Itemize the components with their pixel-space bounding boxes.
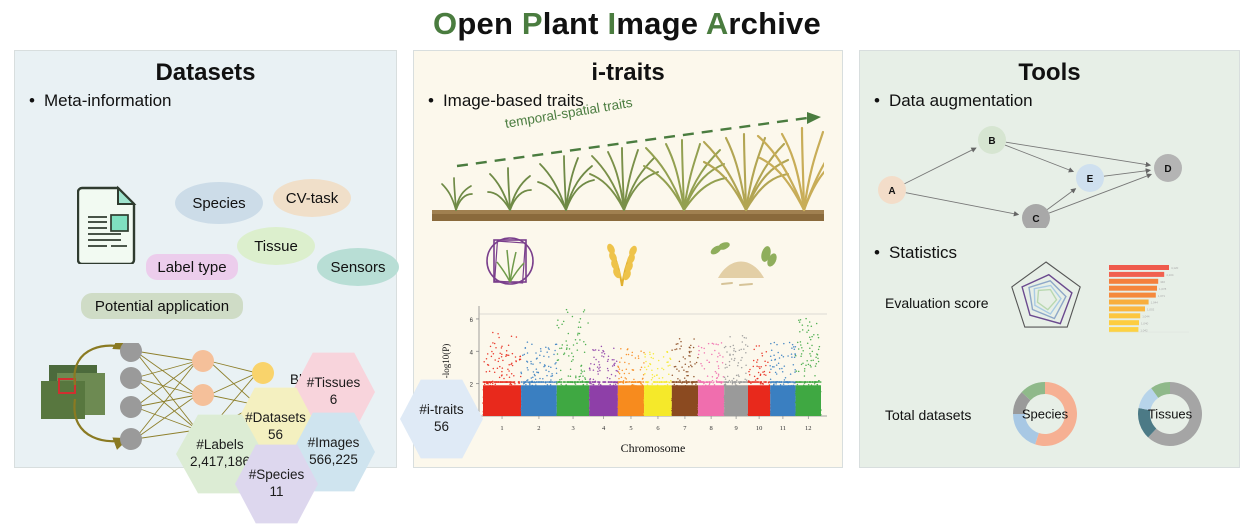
panel-tools-title: Tools	[860, 59, 1239, 87]
horizontal-bar-chart: 4,1204,1043461,0781,0711,0441,0021,0441,…	[1105, 262, 1193, 334]
bar-value-label: 1,044	[1151, 301, 1159, 305]
bar-value-label: 1,078	[1159, 287, 1167, 291]
x-tick-label: 7	[683, 425, 687, 432]
page-title: Open Plant Image Archive	[0, 6, 1254, 42]
meta-pill-potential-application[interactable]: Potential application	[81, 293, 243, 319]
tissues-donut-label: Tissues	[1128, 407, 1212, 422]
meta-pill-cv-task[interactable]: CV-task	[273, 179, 351, 217]
panel-itraits-title: i-traits	[414, 59, 842, 87]
hexagon-label: #Images	[308, 435, 360, 452]
grain-pile-icon	[709, 241, 778, 285]
bar-value-label: 1,071	[1158, 294, 1166, 298]
hexagon-label: #i-traits	[419, 402, 463, 419]
hexagon-value: 2,417,186	[190, 454, 250, 471]
hexagon-label: #Datasets	[245, 410, 306, 427]
bullet-data-augmentation: Data augmentation	[874, 91, 1033, 111]
meta-pill-sensors[interactable]: Sensors	[317, 248, 399, 286]
x-axis-label: Chromosome	[621, 441, 686, 455]
svg-text:2: 2	[470, 383, 474, 389]
x-tick-label: 11	[780, 425, 786, 432]
hexagon-value: 566,225	[309, 452, 358, 469]
hexagon-value: 56	[268, 427, 283, 444]
hexagon-value: 56	[434, 419, 449, 436]
bar-value-label: 4,104	[1166, 273, 1174, 277]
graph-node-e: E	[1087, 174, 1094, 185]
x-tick-label: 12	[805, 425, 812, 432]
species-donut-label: Species	[1003, 407, 1087, 422]
meta-pill-species[interactable]: Species	[175, 182, 263, 224]
x-tick-label: 2	[537, 425, 540, 432]
tissues-donut: Tissues	[1128, 372, 1212, 456]
hexagon-value: 11	[269, 484, 283, 501]
growth-stage-series	[432, 120, 824, 225]
bullet-statistics: Statistics	[874, 243, 957, 263]
graph-node-c: C	[1032, 214, 1039, 225]
y-axis-label: -log10(P)	[441, 344, 451, 379]
x-tick-label: 8	[709, 425, 712, 432]
hexagon-label: #Tissues	[307, 375, 361, 392]
bar-value-label: 1,002	[1147, 308, 1155, 312]
x-tick-label: 9	[734, 425, 737, 432]
trait-icons-row	[480, 232, 810, 290]
document-icon	[77, 184, 139, 264]
evaluation-score-label: Evaluation score	[885, 295, 989, 311]
bar-value-label: 1,042	[1140, 328, 1148, 332]
panel-datasets: Datasets Meta-information	[14, 50, 397, 468]
augmentation-graph: ABCDE	[868, 118, 1233, 228]
x-tick-label: 1	[500, 425, 503, 432]
graph-node-b: B	[988, 136, 995, 147]
manhattan-plot: 0246123456789101112Chromosome-log10(P)	[435, 296, 835, 458]
panel-datasets-title: Datasets	[15, 59, 396, 87]
hexagon-value: 6	[330, 392, 338, 409]
bar-value-label: 1,044	[1142, 315, 1150, 319]
x-tick-label: 5	[629, 425, 632, 432]
graph-node-a: A	[888, 186, 895, 197]
wheat-ear-icon	[606, 243, 639, 286]
x-tick-label: 4	[602, 425, 606, 432]
bullet-meta-information: Meta-information	[29, 91, 172, 111]
species-donut: Species	[1003, 372, 1087, 456]
hexagon-label: #Labels	[196, 437, 243, 454]
radar-chart	[1002, 258, 1090, 338]
svg-text:4: 4	[470, 350, 474, 356]
svg-text:6: 6	[470, 318, 474, 324]
bar-value-label: 4,120	[1171, 266, 1179, 270]
plant-in-circle-icon	[487, 238, 533, 284]
x-tick-label: 6	[656, 425, 660, 432]
bar-value-label: 1,040	[1141, 321, 1149, 325]
total-datasets-label: Total datasets	[885, 407, 971, 423]
x-tick-label: 10	[756, 425, 763, 432]
meta-pill-tissue[interactable]: Tissue	[237, 227, 315, 265]
meta-pill-label-type[interactable]: Label type	[146, 254, 238, 280]
graph-node-d: D	[1164, 164, 1171, 175]
bar-value-label: 346	[1160, 280, 1165, 284]
x-tick-label: 3	[571, 425, 574, 432]
